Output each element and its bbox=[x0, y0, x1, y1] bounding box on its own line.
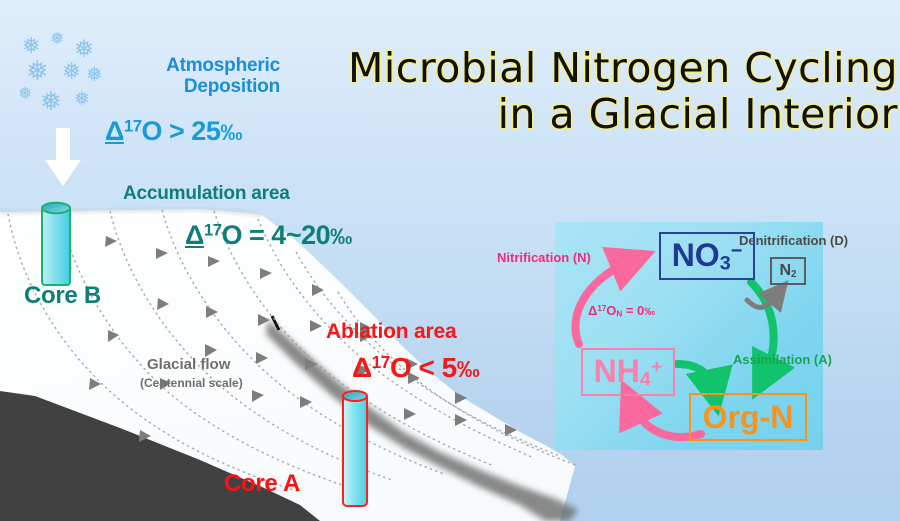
organic-nitrogen-label: Org-N bbox=[703, 399, 794, 436]
ablation-delta-value: Δ17O < 5‰ bbox=[352, 352, 479, 384]
assimilation-ammonium-arrow bbox=[677, 364, 713, 388]
nitrate-label: NO3− bbox=[672, 237, 743, 276]
title-line-2: in a Glacial Interior bbox=[300, 91, 898, 137]
glacial-flow-label: Glacial flow bbox=[147, 356, 230, 373]
glacial-flow-sublabel: (Centennial scale) bbox=[140, 376, 243, 390]
title-line-1: Microbial Nitrogen Cycling bbox=[300, 45, 898, 91]
accumulation-area-label: Accumulation area bbox=[123, 183, 290, 205]
atmospheric-delta-value: Δ17O > 25‰ bbox=[105, 116, 242, 147]
denitrification-label: Denitrification (D) bbox=[739, 233, 848, 248]
core-a-label: Core A bbox=[224, 470, 300, 498]
ablation-area-label: Ablation area bbox=[326, 320, 456, 344]
atmospheric-deposition-line-1: Atmospheric bbox=[166, 55, 280, 76]
organic-nitrogen-node: Org-N bbox=[689, 393, 807, 441]
snowflake-icon: ❅ bbox=[50, 30, 64, 47]
ammonium-label: NH4+ bbox=[594, 353, 663, 392]
snowflake-icon: ❅ bbox=[86, 65, 103, 85]
core-b-cylinder bbox=[42, 203, 70, 285]
accumulation-delta-value: Δ17O = 4~20‰ bbox=[185, 220, 352, 251]
nitrification-label: Nitrification (N) bbox=[497, 250, 591, 265]
snowflake-icon: ❅ bbox=[40, 88, 62, 114]
assimilation-label: Assimilation (A) bbox=[733, 352, 832, 367]
snowflake-icon: ❅ bbox=[74, 90, 90, 109]
nitrogen-cycle-panel: NO3− NH4+ Org-N N2 Nitrification (N) Den… bbox=[555, 222, 823, 450]
snowflake-icon: ❅ bbox=[26, 58, 49, 85]
nitrogen-gas-node: N2 bbox=[770, 257, 806, 285]
nitrification-delta-value: Δ17ON = 0‰ bbox=[588, 303, 655, 318]
snowflake-icon: ❅ bbox=[22, 35, 40, 57]
snowflake-icon: ❅ bbox=[18, 85, 32, 102]
core-b-label: Core B bbox=[24, 282, 101, 310]
ammonium-node: NH4+ bbox=[581, 348, 675, 396]
atmospheric-deposition-line-2: Deposition bbox=[184, 76, 280, 97]
infographic-canvas: ❅ ❅ ❅ ❅ ❅ ❅ ❅ ❅ ❅ Microbial Nitrogen Cyc… bbox=[0, 0, 900, 521]
nitrogen-gas-label: N2 bbox=[779, 262, 796, 280]
page-title: Microbial Nitrogen Cycling in a Glacial … bbox=[300, 45, 898, 137]
atmospheric-deposition-label: Atmospheric Deposition bbox=[105, 55, 280, 97]
deposition-arrow bbox=[45, 128, 81, 186]
snowflake-icon: ❅ bbox=[62, 60, 81, 83]
core-a-cylinder bbox=[343, 391, 367, 506]
